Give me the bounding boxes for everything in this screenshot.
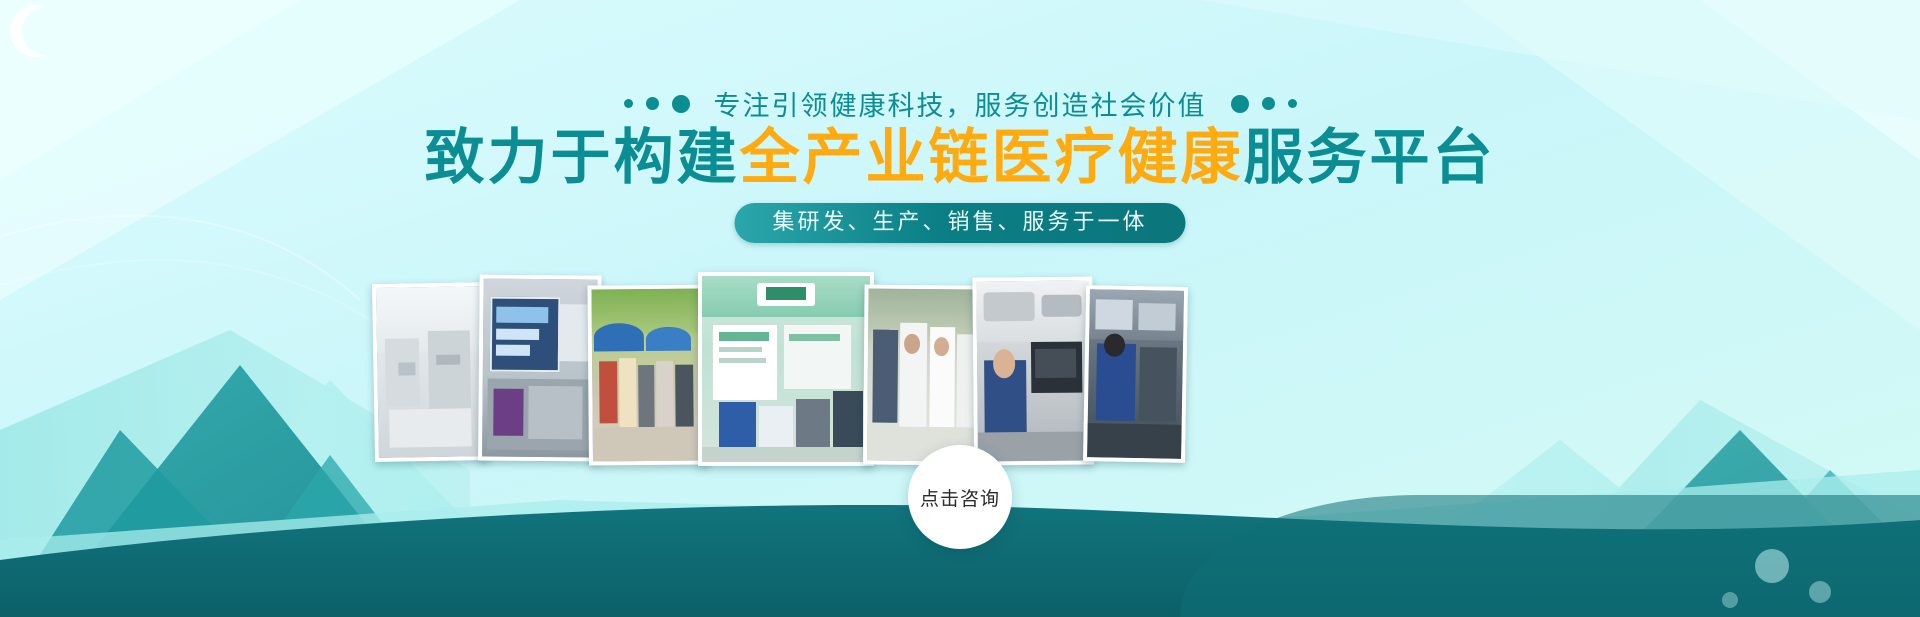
banner-badge: 集研发、生产、销售、服务于一体 <box>734 203 1185 243</box>
photo-technician-at-workstation[interactable] <box>972 276 1094 465</box>
photo-doctors-consultation[interactable] <box>863 284 987 465</box>
photo-mobile-medical-vehicle[interactable] <box>1083 285 1188 463</box>
consult-button[interactable]: 点击咨询 <box>908 445 1012 549</box>
decor-dots-left <box>624 95 690 113</box>
dot-medium-icon <box>646 97 659 110</box>
banner-title: 致力于构建 全产业链医疗健康 服务平台 <box>0 124 1920 193</box>
decor-dots-right <box>1231 95 1297 113</box>
dot-small-icon <box>1288 99 1297 108</box>
title-part-2: 全产业链医疗健康 <box>740 124 1244 193</box>
photo-health-kiosk-screen[interactable] <box>478 274 602 461</box>
healthcare-hero-banner: 专注引领健康科技，服务创造社会价值 致力于构建 全产业链医疗健康 服务平台 集研… <box>0 0 1920 617</box>
dot-medium-icon <box>1262 97 1275 110</box>
title-part-3: 服务平台 <box>1244 124 1496 193</box>
photo-outdoor-health-clinic[interactable] <box>587 284 709 465</box>
banner-subtitle: 专注引领健康科技，服务创造社会价值 <box>704 84 1217 123</box>
dot-small-icon <box>624 99 633 108</box>
photo-gallery-fan <box>375 275 1205 465</box>
consult-button-label: 点击咨询 <box>920 484 1000 511</box>
crescent-moon-icon <box>0 0 62 62</box>
photo-health-hut-booth[interactable] <box>698 272 874 466</box>
subtitle-row: 专注引领健康科技，服务创造社会价值 <box>0 84 1920 123</box>
title-part-1: 致力于构建 <box>425 124 740 193</box>
dot-large-icon <box>1231 95 1249 113</box>
dot-large-icon <box>672 95 690 113</box>
photo-lab-equipment-room[interactable] <box>372 282 489 462</box>
